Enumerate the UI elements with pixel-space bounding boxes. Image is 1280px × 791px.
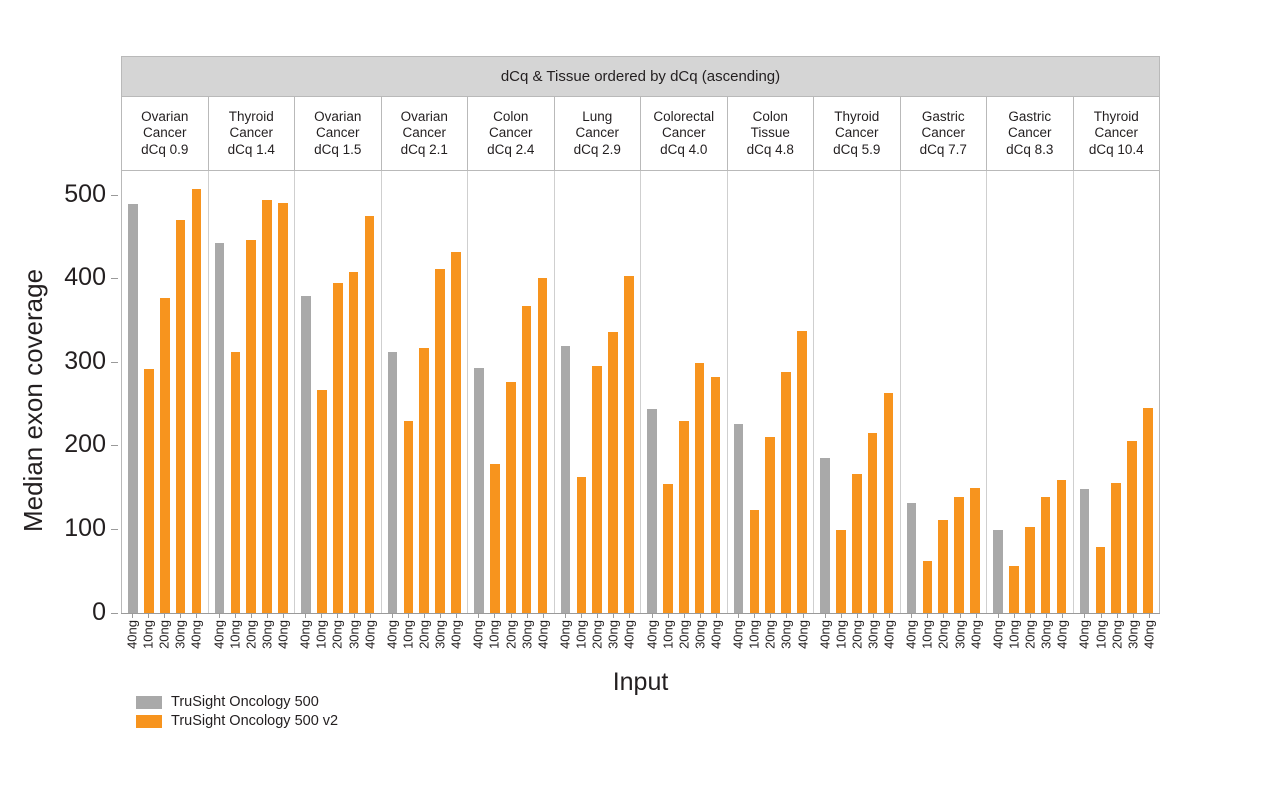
x-axis-tick-mark [825,614,826,618]
x-axis-tick: 40ng [297,614,313,668]
x-axis-tick: 20ng [935,614,951,668]
bar-slot [644,171,660,614]
x-axis-tick-mark [716,614,717,618]
facet-header-tissue-line: Cancer [575,125,619,142]
x-axis-tick-mark [1149,614,1150,618]
bar-group [209,171,295,614]
bar-slot [589,171,605,614]
bar-slot [573,171,589,614]
x-axis-panel-1: 40ng10ng20ng30ng40ng [121,614,208,668]
x-axis-tick: 40ng [643,614,659,668]
x-axis-tick-mark [857,614,858,618]
chart-panel-3 [295,171,382,614]
facet-header-tissue-line: Cancer [229,125,273,142]
facet-header-dcq: dCq 2.4 [487,142,534,159]
bar-trusight-oncology-500-v2-30ng [868,433,878,614]
bar-slot [125,171,141,614]
x-axis-tick: 30ng [778,614,794,668]
bar-trusight-oncology-500-v2-10ng [144,369,154,614]
chart-panel-9 [814,171,901,614]
legend-swatch [136,696,162,709]
facet-strip-title-label: dCq & Tissue ordered by dCq (ascending) [501,68,780,85]
bar-slot [903,171,919,614]
facet-header-12: ThyroidCancerdCq 10.4 [1074,97,1160,170]
x-axis-tick-mark [1030,614,1031,618]
x-axis-panel-12: 40ng10ng20ng30ng40ng [1073,614,1160,668]
y-axis-tick-label: 500 [64,182,111,207]
x-axis-tick-label: 30ng [434,620,447,649]
x-axis-tick-mark [770,614,771,618]
x-axis-tick-label: 20ng [244,620,257,649]
facet-header-dcq: dCq 1.4 [228,142,275,159]
y-axis-tick-mark [111,278,118,279]
x-axis-tick-mark [251,614,252,618]
x-axis-tick: 30ng [519,614,535,668]
facet-header-dcq: dCq 7.7 [920,142,967,159]
bar-slot [211,171,227,614]
bar-slot [833,171,849,614]
chart-panel-6 [555,171,642,614]
x-axis-tick: 20ng [416,614,432,668]
x-axis-tick-label: 40ng [558,620,571,649]
bar-slot [817,171,833,614]
x-axis-tick-label: 40ng [385,620,398,649]
bar-trusight-oncology-500-v2-20ng [938,520,948,614]
x-axis-tick-label: 40ng [645,620,658,649]
x-axis-tick-mark [786,614,787,618]
x-axis-tick-label: 10ng [142,620,155,649]
facet-header-11: GastricCancerdCq 8.3 [987,97,1074,170]
x-axis-tick: 20ng [503,614,519,668]
bar-trusight-oncology-500-v2-40ng [1143,408,1153,614]
facet-header-tissue-line: Ovarian [401,109,448,126]
y-axis-tick-mark [111,529,118,530]
x-axis-tick-label: 10ng [1094,620,1107,649]
x-axis-tick-label: 10ng [315,620,328,649]
bar-slot [1006,171,1022,614]
x-axis-tick: 10ng [400,614,416,668]
x-axis-tick: 40ng [211,614,227,668]
x-axis-tick-label: 20ng [418,620,431,649]
x-axis-tick: 40ng [794,614,810,668]
bar-group [382,171,468,614]
x-axis-tick-mark [960,614,961,618]
bar-slot [935,171,951,614]
x-axis-tick: 10ng [660,614,676,668]
x-axis-tick-label: 20ng [1024,620,1037,649]
x-axis-tick-label: 40ng [732,620,745,649]
bar-trusight-oncology-500-40ng [820,458,830,614]
facet-header-tissue-line: Thyroid [229,109,274,126]
bar-trusight-oncology-500-v2-10ng [750,510,760,614]
x-axis-panel-11: 40ng10ng20ng30ng40ng [987,614,1074,668]
x-axis-tick: 40ng [362,614,378,668]
x-axis-panel-5: 40ng10ng20ng30ng40ng [467,614,554,668]
bar-slot [1124,171,1140,614]
facet-header-tissue-line: Colon [753,109,788,126]
x-axis-tick: 40ng [124,614,140,668]
bar-trusight-oncology-500-v2-40ng [278,203,288,614]
x-axis-tick-label: 20ng [331,620,344,649]
x-axis-tick-label: 40ng [796,620,809,649]
bar-slot [519,171,535,614]
x-axis-tick-label: 40ng [299,620,312,649]
bar-trusight-oncology-500-v2-10ng [1009,566,1019,614]
facet-header-9: ThyroidCancerdCq 5.9 [814,97,901,170]
y-axis: 0100200300400500 [56,180,118,628]
facet-header-4: OvarianCancerdCq 2.1 [382,97,469,170]
x-axis-panel-9: 40ng10ng20ng30ng40ng [814,614,901,668]
x-axis-tick: 10ng [313,614,329,668]
legend: TruSight Oncology 500TruSight Oncology 5… [136,694,338,729]
bar-slot [1076,171,1092,614]
bar-group [295,171,381,614]
x-axis-panel-8: 40ng10ng20ng30ng40ng [727,614,814,668]
bar-trusight-oncology-500-40ng [647,409,657,614]
bar-trusight-oncology-500-40ng [301,296,311,614]
facet-header-dcq: dCq 2.9 [574,142,621,159]
bar-slot [865,171,881,614]
bar-slot [967,171,983,614]
facet-header-dcq: dCq 2.1 [401,142,448,159]
bar-slot [173,171,189,614]
y-axis-title: Median exon coverage [14,180,54,620]
x-axis-tick-label: 40ng [277,620,290,649]
facet-header-5: ColonCancerdCq 2.4 [468,97,555,170]
bar-group [122,171,208,614]
x-axis-tick-mark [927,614,928,618]
x-axis-title: Input [121,668,1160,697]
chart-panel-2 [209,171,296,614]
bar-slot [660,171,676,614]
facet-header-tissue-line: Cancer [662,125,706,142]
x-axis-panel-3: 40ng10ng20ng30ng40ng [294,614,381,668]
bar-trusight-oncology-500-v2-30ng [349,272,359,614]
x-axis-tick: 30ng [432,614,448,668]
bar-group [468,171,554,614]
facet-header-10: GastricCancerdCq 7.7 [901,97,988,170]
x-axis-tick: 20ng [589,614,605,668]
bar-trusight-oncology-500-v2-40ng [624,276,634,614]
bar-trusight-oncology-500-v2-20ng [246,240,256,614]
bar-slot [384,171,400,614]
x-axis-tick-mark [164,614,165,618]
x-axis-tick: 30ng [865,614,881,668]
bar-group [555,171,641,614]
bar-trusight-oncology-500-v2-30ng [954,497,964,614]
x-axis-tick-mark [321,614,322,618]
x-axis-tick-mark [1046,614,1047,618]
facet-header-tissue-line: Cancer [835,125,879,142]
bar-slot [708,171,724,614]
x-axis-tick-mark [424,614,425,618]
x-axis-panel-7: 40ng10ng20ng30ng40ng [640,614,727,668]
x-axis-tick-label: 40ng [1056,620,1069,649]
bar-trusight-oncology-500-v2-10ng [317,390,327,614]
facet-header-dcq: dCq 8.3 [1006,142,1053,159]
x-axis-tick: 20ng [156,614,172,668]
bar-slot [243,171,259,614]
x-axis-tick: 10ng [919,614,935,668]
x-axis-tick-label: 10ng [228,620,241,649]
chart-panel-8 [728,171,815,614]
x-axis-tick: 40ng [557,614,573,668]
x-axis-tick-label: 30ng [607,620,620,649]
x-axis-tick-mark [1014,614,1015,618]
bar-slot [730,171,746,614]
facet-strip-title: dCq & Tissue ordered by dCq (ascending) [122,57,1159,97]
bar-slot [259,171,275,614]
x-axis-tick: 10ng [833,614,849,668]
x-axis-tick: 40ng [1076,614,1092,668]
x-axis-tick-label: 40ng [126,620,139,649]
bar-trusight-oncology-500-v2-30ng [176,220,186,614]
x-axis-tick-mark [305,614,306,618]
bar-slot [881,171,897,614]
x-axis-tick-mark [684,614,685,618]
x-axis-tick-mark [511,614,512,618]
bar-slot [676,171,692,614]
bar-trusight-oncology-500-v2-40ng [365,216,375,614]
facet-header-tissue-line: Cancer [921,125,965,142]
x-axis-tick-mark [408,614,409,618]
x-axis-tick-label: 40ng [991,620,1004,649]
x-axis-tick: 20ng [849,614,865,668]
x-axis-tick: 40ng [448,614,464,668]
facet-header-tissue-line: Lung [582,109,612,126]
x-axis-tick-label: 40ng [472,620,485,649]
bar-trusight-oncology-500-v2-20ng [506,382,516,614]
x-axis-tick: 40ng [188,614,204,668]
bar-slot [951,171,967,614]
x-axis-panel-2: 40ng10ng20ng30ng40ng [208,614,295,668]
x-axis-tick-label: 40ng [905,620,918,649]
x-axis-tick-label: 20ng [158,620,171,649]
x-axis-tick: 20ng [1022,614,1038,668]
legend-item-2: TruSight Oncology 500 v2 [136,713,338,729]
x-axis-tick-label: 10ng [488,620,501,649]
facet-header-dcq: dCq 10.4 [1089,142,1144,159]
bar-trusight-oncology-500-v2-40ng [192,189,202,614]
x-axis-tick-label: 40ng [883,620,896,649]
x-axis-title-label: Input [613,668,669,696]
x-axis-tick: 20ng [243,614,259,668]
x-axis-tick-mark [267,614,268,618]
x-axis-tick: 40ng [817,614,833,668]
x-axis-tick: 40ng [968,614,984,668]
facet-header-7: ColorectalCancerdCq 4.0 [641,97,728,170]
x-axis-tick-label: 30ng [260,620,273,649]
x-axis-tick-mark [1133,614,1134,618]
bar-trusight-oncology-500-v2-10ng [923,561,933,614]
bar-trusight-oncology-500-v2-20ng [333,283,343,614]
bar-trusight-oncology-500-v2-10ng [577,477,587,614]
facet-header-dcq: dCq 4.8 [747,142,794,159]
x-axis-tick: 40ng [275,614,291,668]
x-axis-tick: 10ng [140,614,156,668]
facet-header-row: OvarianCancerdCq 0.9ThyroidCancerdCq 1.4… [122,97,1159,171]
facet-header-tissue-line: Cancer [402,125,446,142]
bar-slot [227,171,243,614]
bar-trusight-oncology-500-v2-20ng [592,366,602,614]
bar-slot [1092,171,1108,614]
bar-slot [762,171,778,614]
facet-header-8: ColonTissuedCq 4.8 [728,97,815,170]
facet-header-tissue-line: Cancer [1094,125,1138,142]
facet-header-tissue-line: Thyroid [1094,109,1139,126]
x-axis-tick-label: 30ng [1126,620,1139,649]
x-axis-tick-mark [235,614,236,618]
x-axis-tick: 40ng [730,614,746,668]
bar-group [987,171,1073,614]
bar-trusight-oncology-500-v2-40ng [884,393,894,614]
x-axis-tick-mark [219,614,220,618]
chart-panel-10 [901,171,988,614]
legend-item-1: TruSight Oncology 500 [136,694,338,710]
bar-trusight-oncology-500-v2-30ng [781,372,791,614]
x-axis-tick-mark [873,614,874,618]
x-axis-tick-label: 10ng [748,620,761,649]
chart-panel-1 [122,171,209,614]
bar-slot [471,171,487,614]
x-axis-tick: 10ng [1006,614,1022,668]
bar-trusight-oncology-500-40ng [474,368,484,614]
x-axis-tick-label: 40ng [818,620,831,649]
bar-trusight-oncology-500-40ng [734,424,744,614]
x-axis-panel-10: 40ng10ng20ng30ng40ng [900,614,987,668]
x-axis-tick: 30ng [259,614,275,668]
bar-slot [1038,171,1054,614]
x-axis-tick-mark [841,614,842,618]
bar-trusight-oncology-500-v2-20ng [852,474,862,614]
facet-header-tissue-line: Cancer [316,125,360,142]
facet-header-tissue-line: Colorectal [653,109,714,126]
bar-slot [1140,171,1156,614]
x-axis-tick: 20ng [762,614,778,668]
bar-slot [141,171,157,614]
x-axis-tick: 40ng [903,614,919,668]
x-axis-tick-mark [354,614,355,618]
x-axis-tick-label: 10ng [575,620,588,649]
x-axis-tick-label: 40ng [1078,620,1091,649]
x-axis-tick: 10ng [486,614,502,668]
bar-trusight-oncology-500-v2-30ng [522,306,532,614]
x-axis-tick: 10ng [746,614,762,668]
facet-header-tissue-line: Ovarian [314,109,361,126]
y-axis-tick-label: 300 [64,349,111,374]
bar-trusight-oncology-500-v2-10ng [231,352,241,614]
plot-area: dCq & Tissue ordered by dCq (ascending) … [121,56,1160,614]
bar-trusight-oncology-500-v2-10ng [490,464,500,614]
facet-header-tissue-line: Gastric [1008,109,1051,126]
bar-group [1074,171,1160,614]
bar-slot [1022,171,1038,614]
facet-header-tissue-line: Cancer [143,125,187,142]
y-axis-tick-label: 100 [64,516,111,541]
x-axis-tick-mark [629,614,630,618]
x-axis-panel-4: 40ng10ng20ng30ng40ng [381,614,468,668]
x-axis-tick: 40ng [1054,614,1070,668]
bar-trusight-oncology-500-v2-30ng [435,269,445,614]
x-axis-tick: 20ng [676,614,692,668]
bar-trusight-oncology-500-v2-40ng [797,331,807,614]
x-axis-tick: 40ng [621,614,637,668]
x-axis-tick: 30ng [605,614,621,668]
y-axis-tick-label: 0 [92,600,111,625]
x-axis-tick-mark [700,614,701,618]
x-axis-tick: 40ng [708,614,724,668]
y-axis-tick-mark [111,362,118,363]
bar-slot [919,171,935,614]
x-axis-tick-mark [180,614,181,618]
bar-slot [275,171,291,614]
bar-slot [1054,171,1070,614]
x-axis-tick-label: 30ng [1040,620,1053,649]
bar-group [641,171,727,614]
legend-label: TruSight Oncology 500 v2 [171,713,338,729]
x-axis-tick-mark [392,614,393,618]
bar-trusight-oncology-500-v2-10ng [1096,547,1106,614]
bar-slot [605,171,621,614]
bar-trusight-oncology-500-v2-10ng [836,530,846,614]
bar-group [728,171,814,614]
facet-header-dcq: dCq 4.0 [660,142,707,159]
x-axis-tick-mark [565,614,566,618]
x-axis-tick-label: 10ng [834,620,847,649]
chart-panel-5 [468,171,555,614]
x-axis-tick-label: 40ng [536,620,549,649]
facet-header-tissue-line: Tissue [751,125,790,142]
x-axis-tick-label: 30ng [780,620,793,649]
x-axis-tick-mark [337,614,338,618]
facet-header-tissue-line: Thyroid [834,109,879,126]
x-axis-tick-mark [911,614,912,618]
x-axis-tick-mark [738,614,739,618]
x-axis-tick: 30ng [1125,614,1141,668]
x-axis-tick-label: 20ng [504,620,517,649]
bar-trusight-oncology-500-v2-20ng [765,437,775,614]
x-axis-tick: 30ng [1038,614,1054,668]
x-axis-tick: 30ng [345,614,361,668]
bar-slot [416,171,432,614]
x-axis-tick-mark [456,614,457,618]
legend-swatch [136,715,162,728]
bar-slot [535,171,551,614]
x-axis-tick-label: 10ng [1007,620,1020,649]
legend-label: TruSight Oncology 500 [171,694,319,710]
x-axis-tick-label: 40ng [1142,620,1155,649]
x-axis-tick-mark [370,614,371,618]
x-axis-tick: 30ng [172,614,188,668]
y-axis-tick-label: 400 [64,265,111,290]
bar-slot [849,171,865,614]
x-axis-tick-label: 30ng [174,620,187,649]
x-axis-tick-label: 10ng [661,620,674,649]
x-axis-tick-mark [889,614,890,618]
x-axis-tick-label: 40ng [212,620,225,649]
y-axis-tick-mark [111,613,118,614]
x-axis-tick: 40ng [881,614,897,668]
bar-slot [1108,171,1124,614]
x-axis-tick-mark [148,614,149,618]
bar-trusight-oncology-500-v2-10ng [663,484,673,614]
chart-panel-4 [382,171,469,614]
x-axis-tick-label: 40ng [450,620,463,649]
facet-header-tissue-line: Colon [493,109,528,126]
bar-slot [432,171,448,614]
x-axis-tick-label: 20ng [764,620,777,649]
x-axis-tick-label: 20ng [1110,620,1123,649]
